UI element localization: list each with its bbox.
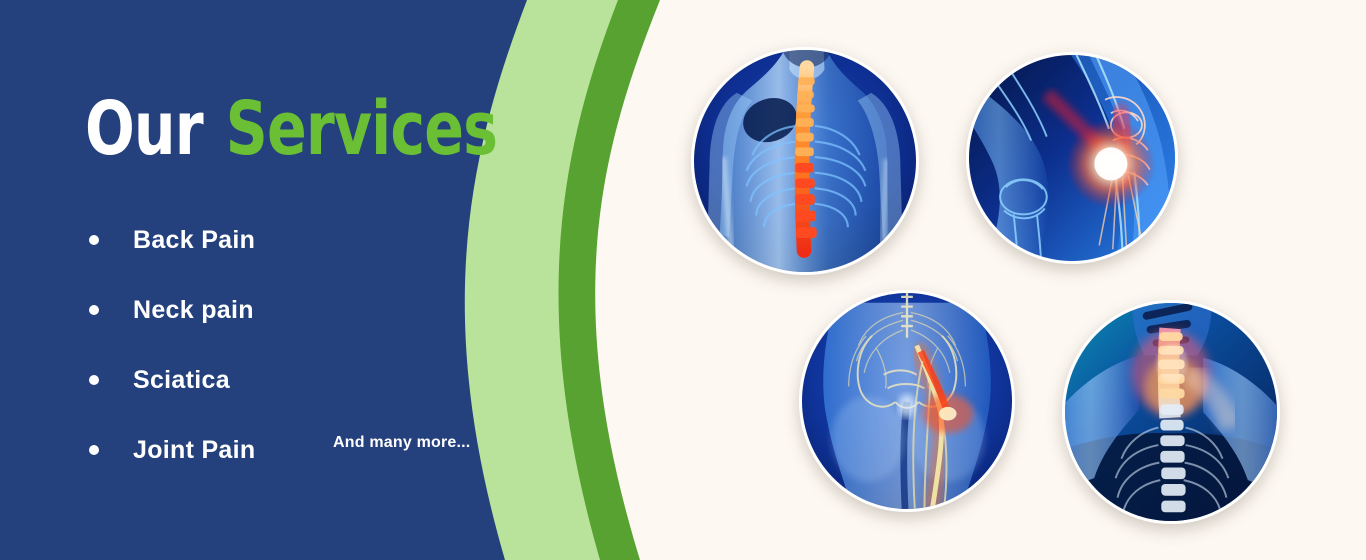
title-word-services: Services — [226, 86, 497, 172]
dot-bullet-icon — [89, 235, 99, 245]
neck-pain-photo[interactable] — [1062, 300, 1280, 524]
services-banner: OurServices Back Pain Neck pain Sciatica… — [0, 0, 1366, 560]
page-title: OurServices — [85, 92, 497, 166]
dot-bullet-icon — [89, 375, 99, 385]
title-word-our: Our — [85, 86, 203, 172]
dot-bullet-icon — [89, 445, 99, 455]
dot-bullet-icon — [89, 305, 99, 315]
and-many-more-text: And many more... — [333, 434, 470, 452]
list-item[interactable]: Sciatica — [85, 345, 505, 415]
knee-pain-photo[interactable] — [966, 52, 1178, 264]
service-label: Sciatica — [133, 366, 230, 394]
service-label: Neck pain — [133, 296, 254, 324]
back-pain-spine-photo[interactable] — [691, 47, 919, 275]
service-label: Back Pain — [133, 226, 255, 254]
sciatica-nerve-photo[interactable] — [799, 290, 1015, 512]
list-item[interactable]: Back Pain — [85, 205, 505, 275]
list-item[interactable]: Neck pain — [85, 275, 505, 345]
service-label: Joint Pain — [133, 436, 255, 464]
left-text-panel: OurServices Back Pain Neck pain Sciatica… — [0, 0, 520, 560]
